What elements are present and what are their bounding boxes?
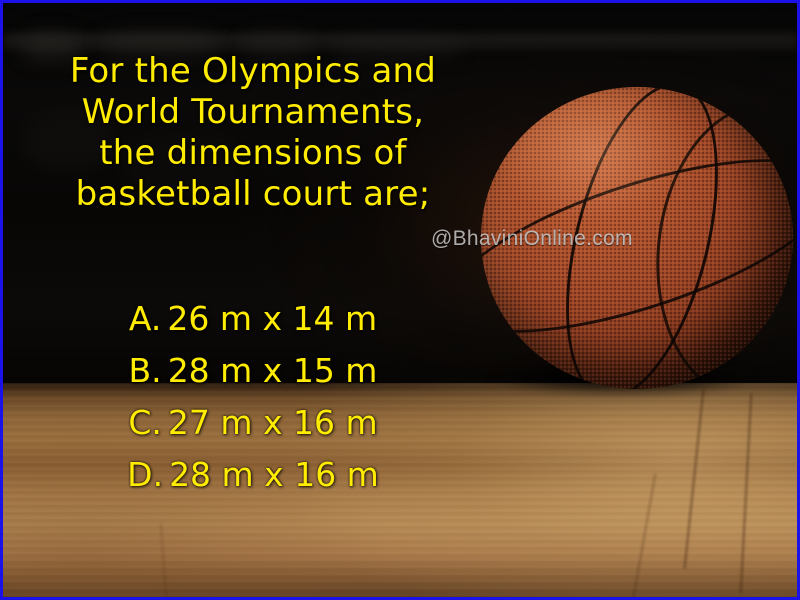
option-d-label: D. (127, 455, 163, 494)
option-a: A.26 m x 14 m (3, 293, 503, 345)
option-b-label: B. (129, 351, 162, 390)
option-a-label: A. (129, 299, 161, 338)
question-text: For the Olympics and World Tournaments, … (3, 51, 503, 215)
question-line-1: For the Olympics and (3, 51, 503, 92)
watermark: @BhaviniOnline.com (431, 227, 633, 250)
option-d-text: 28 m x 16 m (169, 455, 379, 494)
option-b: B.28 m x 15 m (3, 345, 503, 397)
option-c-text: 27 m x 16 m (168, 403, 378, 442)
option-b-text: 28 m x 15 m (168, 351, 378, 390)
answer-options: A.26 m x 14 m B.28 m x 15 m C.27 m x 16 … (3, 293, 503, 501)
question-line-3: the dimensions of (3, 133, 503, 174)
option-c-label: C. (128, 403, 162, 442)
question-line-4: basketball court are; (3, 174, 503, 215)
option-a-text: 26 m x 14 m (167, 299, 377, 338)
quiz-poster: For the Olympics and World Tournaments, … (0, 0, 800, 600)
option-c: C.27 m x 16 m (3, 397, 503, 449)
question-line-2: World Tournaments, (3, 92, 503, 133)
option-d: D.28 m x 16 m (3, 449, 503, 501)
